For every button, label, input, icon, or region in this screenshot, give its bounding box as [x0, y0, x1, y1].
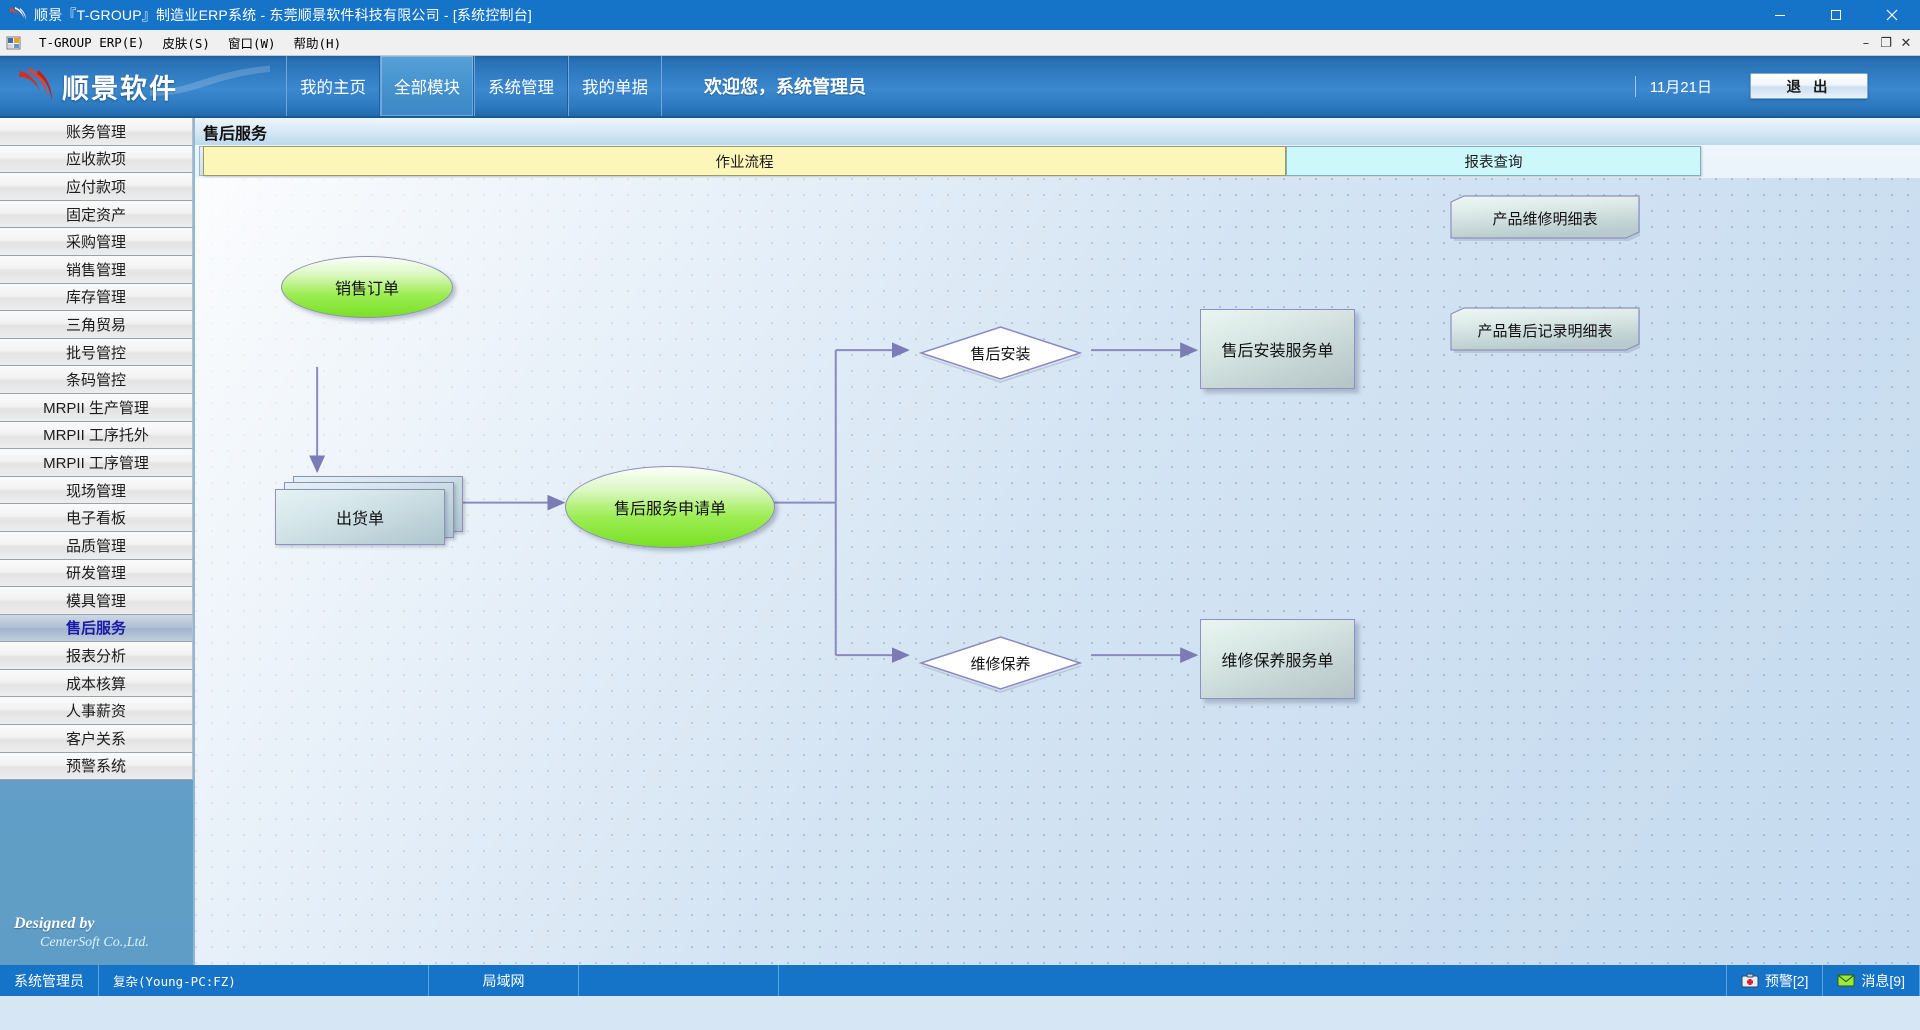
module-title-bar: 售后服务 — [195, 118, 1920, 145]
sidebar-item-shopfloor[interactable]: 现场管理 — [0, 477, 193, 505]
sidebar-item-alert-system[interactable]: 预警系统 — [0, 753, 193, 781]
nav-tab-system-admin[interactable]: 系统管理 — [474, 56, 568, 116]
menu-item-erp[interactable]: T-GROUP ERP(E) — [30, 33, 153, 52]
sidebar-item-rnd[interactable]: 研发管理 — [0, 560, 193, 588]
workspace: 账务管理 应收款项 应付款项 固定资产 采购管理 销售管理 库存管理 三角贸易 … — [0, 118, 1920, 965]
menu-item-skin[interactable]: 皮肤(S) — [153, 31, 219, 54]
nav-tab-home[interactable]: 我的主页 — [286, 56, 380, 116]
tabstrip-tail — [1701, 146, 1920, 176]
sidebar: 账务管理 应收款项 应付款项 固定资产 采购管理 销售管理 库存管理 三角贸易 … — [0, 118, 195, 965]
sidebar-item-after-sales[interactable]: 售后服务 — [0, 615, 193, 643]
sidebar-item-hr-payroll[interactable]: 人事薪资 — [0, 697, 193, 725]
status-network: 局域网 — [429, 965, 579, 996]
header-date: 11月21日 — [1635, 76, 1712, 97]
sidebar-item-quality[interactable]: 品质管理 — [0, 532, 193, 560]
header-right-area: 11月21日 退 出 — [1635, 56, 1920, 116]
header-nav-tabs: 我的主页 全部模块 系统管理 我的单据 — [286, 56, 662, 116]
sidebar-item-barcode-control[interactable]: 条码管控 — [0, 366, 193, 394]
app-header: 顺景软件 我的主页 全部模块 系统管理 我的单据 欢迎您，系统管理员 11月21… — [0, 56, 1920, 118]
sidebar-item-accounting[interactable]: 账务管理 — [0, 118, 193, 146]
flow-node-service-request-label: 售后服务申请单 — [614, 495, 726, 519]
flow-report-repair-detail-label: 产品维修明细表 — [1450, 194, 1640, 242]
sidebar-item-mrp-production[interactable]: MRPII 生产管理 — [0, 394, 193, 422]
status-message[interactable]: 消息[9] — [1822, 965, 1920, 996]
designed-by-block: Designed by CenterSoft Co.,Ltd. — [0, 905, 193, 965]
designed-by-line1: Designed by — [14, 915, 193, 933]
flow-node-shipment-order[interactable]: 出货单 — [275, 476, 445, 538]
shunjing-logo-icon — [8, 6, 28, 24]
close-button[interactable] — [1864, 0, 1920, 30]
mdi-window-icon — [6, 35, 22, 51]
shunjing-brand-icon — [16, 65, 56, 107]
sidebar-module-list: 账务管理 应收款项 应付款项 固定资产 采购管理 销售管理 库存管理 三角贸易 … — [0, 118, 193, 780]
sidebar-item-receivables[interactable]: 应收款项 — [0, 146, 193, 174]
sidebar-item-report-analysis[interactable]: 报表分析 — [0, 642, 193, 670]
flow-node-maintenance-label: 维修保养 — [918, 634, 1083, 692]
flow-canvas[interactable]: 销售订单 出货单 售后服务申请单 售后安装 — [195, 178, 1920, 965]
status-alert[interactable]: 预警[2] — [1726, 965, 1823, 996]
sidebar-item-crm[interactable]: 客户关系 — [0, 725, 193, 753]
sidebar-filler — [0, 780, 193, 905]
nav-tab-all-modules[interactable]: 全部模块 — [380, 56, 474, 116]
sidebar-item-inventory[interactable]: 库存管理 — [0, 284, 193, 312]
status-database: 复杂(Young-PC:FZ) — [99, 965, 429, 996]
flow-node-maintenance[interactable]: 维修保养 — [918, 634, 1083, 692]
main-panel: 售后服务 作业流程 报表查询 — [195, 118, 1920, 965]
sidebar-item-sales[interactable]: 销售管理 — [0, 256, 193, 284]
page-title: 售后服务 — [203, 120, 267, 145]
sidebar-item-triangle-trade[interactable]: 三角贸易 — [0, 311, 193, 339]
status-message-label: 消息[9] — [1861, 971, 1905, 991]
window-titlebar: 顺景『T-GROUP』制造业ERP系统 - 东莞顺景软件科技有限公司 - [系统… — [0, 0, 1920, 30]
mdi-child-controls: – ❐ ✕ — [1856, 30, 1916, 56]
first-aid-kit-icon — [1741, 973, 1759, 988]
menu-item-window[interactable]: 窗口(W) — [219, 31, 285, 54]
sidebar-item-kanban[interactable]: 电子看板 — [0, 504, 193, 532]
sidebar-item-mrp-outsourcing[interactable]: MRPII 工序托外 — [0, 422, 193, 450]
flow-report-repair-detail[interactable]: 产品维修明细表 — [1450, 194, 1640, 242]
brand-area: 顺景软件 — [0, 56, 270, 116]
flow-node-sales-order-label: 销售订单 — [335, 275, 399, 299]
flow-report-service-record-label: 产品售后记录明细表 — [1450, 306, 1640, 354]
status-user: 系统管理员 — [0, 965, 99, 996]
tab-work-flow[interactable]: 作业流程 — [203, 146, 1286, 176]
flow-node-shipment-order-label: 出货单 — [336, 505, 384, 529]
flow-node-install-service-order-label: 售后安装服务单 — [1221, 337, 1333, 361]
maximize-button[interactable] — [1808, 0, 1864, 30]
welcome-message: 欢迎您，系统管理员 — [704, 56, 866, 116]
minimize-button[interactable] — [1752, 0, 1808, 30]
sidebar-item-cost-accounting[interactable]: 成本核算 — [0, 670, 193, 698]
sidebar-item-mold[interactable]: 模具管理 — [0, 587, 193, 615]
logout-button[interactable]: 退 出 — [1750, 73, 1868, 99]
window-controls — [1752, 0, 1920, 30]
window-title: 顺景『T-GROUP』制造业ERP系统 - 东莞顺景软件科技有限公司 - [系统… — [34, 5, 532, 25]
nav-tab-my-documents[interactable]: 我的单据 — [568, 56, 662, 116]
mdi-minimize-button[interactable]: – — [1856, 33, 1876, 53]
flow-report-service-record[interactable]: 产品售后记录明细表 — [1450, 306, 1640, 354]
envelope-icon — [1837, 973, 1855, 988]
flow-node-install-service-order[interactable]: 售后安装服务单 — [1200, 309, 1355, 389]
sidebar-item-lot-control[interactable]: 批号管控 — [0, 339, 193, 367]
shipment-order-layer-front: 出货单 — [275, 489, 445, 545]
flow-node-after-install[interactable]: 售后安装 — [918, 324, 1083, 382]
flow-connectors — [195, 178, 1920, 965]
flow-node-maintenance-service-order[interactable]: 维修保养服务单 — [1200, 619, 1355, 699]
tab-report-query[interactable]: 报表查询 — [1286, 146, 1701, 176]
flow-node-maintenance-service-order-label: 维修保养服务单 — [1221, 647, 1333, 671]
sidebar-item-purchasing[interactable]: 采购管理 — [0, 228, 193, 256]
menu-bar: T-GROUP ERP(E) 皮肤(S) 窗口(W) 帮助(H) – ❐ ✕ — [0, 30, 1920, 56]
flow-node-after-install-label: 售后安装 — [918, 324, 1083, 382]
mdi-close-button[interactable]: ✕ — [1896, 33, 1916, 53]
sidebar-item-mrp-process[interactable]: MRPII 工序管理 — [0, 449, 193, 477]
menu-item-help[interactable]: 帮助(H) — [285, 31, 351, 54]
flow-node-sales-order[interactable]: 销售订单 — [281, 256, 453, 318]
status-right-area: 预警[2] 消息[9] — [1726, 965, 1920, 996]
status-bar: 系统管理员 复杂(Young-PC:FZ) 局域网 预警[2] — [0, 965, 1920, 996]
sidebar-item-payables[interactable]: 应付款项 — [0, 173, 193, 201]
sidebar-item-fixed-assets[interactable]: 固定资产 — [0, 201, 193, 229]
flow-node-service-request[interactable]: 售后服务申请单 — [565, 466, 775, 548]
status-blank-1 — [579, 965, 779, 996]
status-alert-label: 预警[2] — [1765, 971, 1809, 991]
content-tabstrip: 作业流程 报表查询 — [195, 146, 1920, 176]
designed-by-line2: CenterSoft Co.,Ltd. — [14, 935, 193, 951]
mdi-restore-button[interactable]: ❐ — [1876, 33, 1896, 53]
brand-name: 顺景软件 — [62, 67, 178, 106]
